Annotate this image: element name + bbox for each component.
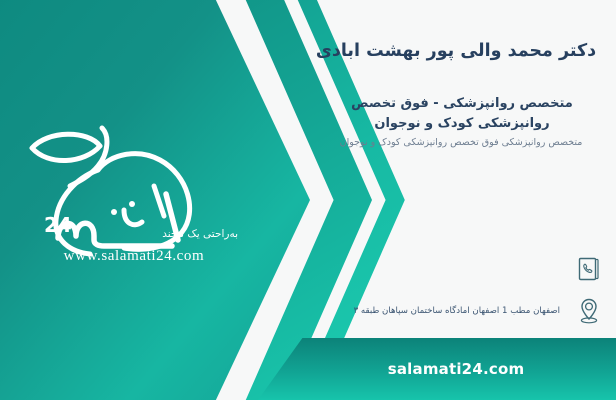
footer-bar: salamati24.com xyxy=(258,338,616,400)
logo-tagline: به‌راحتی یک لبخند xyxy=(162,228,238,240)
phone-book-icon[interactable] xyxy=(568,256,610,282)
address-value: اصفهان مطب 1 اصفهان امادگاه ساختمان سپاه… xyxy=(304,305,560,317)
doctor-specialty-subtitle: متخصص روانپزشکی فوق تخصص روانپزشکی کودک … xyxy=(316,135,606,151)
doctor-name: دکتر محمد والی پور بهشت ابادی xyxy=(308,41,604,63)
contact-row-phone[interactable] xyxy=(304,248,610,290)
location-pin-icon[interactable] xyxy=(568,297,610,325)
doctor-profile-card: 24 به‌راحتی یک لبخند www.salamati24.com … xyxy=(0,0,616,400)
contact-block: اصفهان مطب 1 اصفهان امادگاه ساختمان سپاه… xyxy=(304,248,610,332)
brand-logo[interactable]: 24 به‌راحتی یک لبخند www.salamati24.com xyxy=(14,120,254,275)
logo-website[interactable]: www.salamati24.com xyxy=(14,248,254,265)
contact-row-address[interactable]: اصفهان مطب 1 اصفهان امادگاه ساختمان سپاه… xyxy=(304,290,610,332)
footer-website[interactable]: salamati24.com xyxy=(388,360,525,378)
doctor-specialty: متخصص روانپزشکی - فوق تخصص روانپزشکی کود… xyxy=(318,94,606,133)
logo-badge-24: 24 xyxy=(44,213,72,237)
